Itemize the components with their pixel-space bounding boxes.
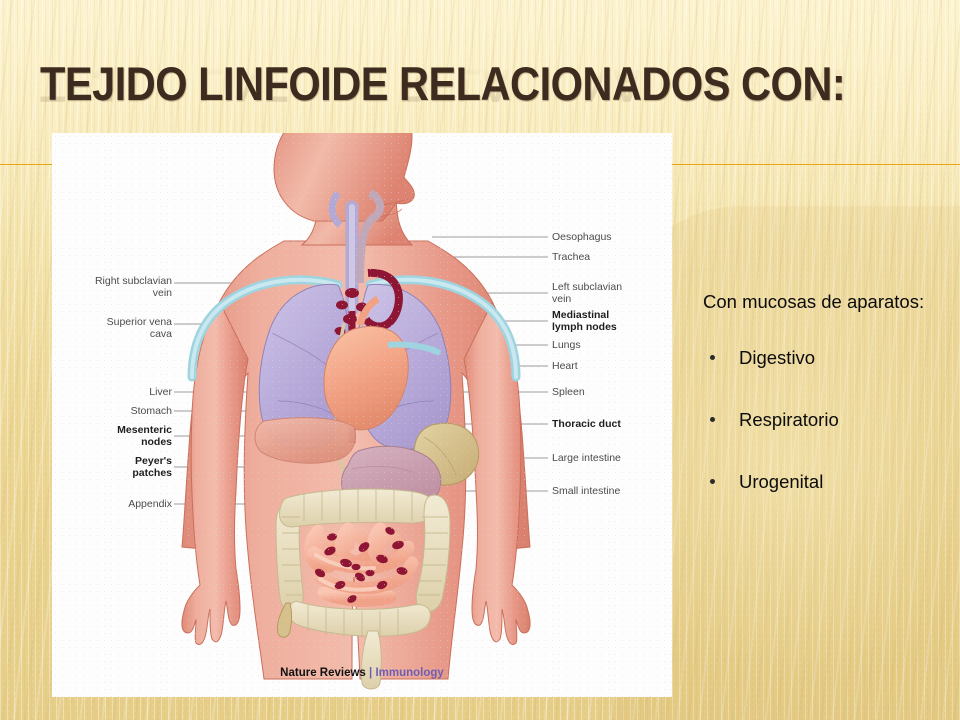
figure-label-stomach: Stomach xyxy=(52,405,172,417)
figure-label-peyers-patches: Peyer's patches xyxy=(52,455,172,479)
page-title: TEJIDO LINFOIDE RELACIONADOS CON: xyxy=(40,60,845,107)
content-text-panel: Con mucosas de aparatos: Digestivo Respi… xyxy=(703,289,953,531)
figure-label-appendix: Appendix xyxy=(52,498,172,510)
title-block: TEJIDO LINFOIDE RELACIONADOS CON: TEJIDO… xyxy=(0,60,960,138)
figure-label-thoracic-duct: Thoracic duct xyxy=(552,418,672,430)
bullet-label: Digestivo xyxy=(739,347,815,368)
bullet-dot-icon xyxy=(710,355,715,360)
figure-label-lungs: Lungs xyxy=(552,339,672,351)
liver xyxy=(255,418,355,464)
figure-label-mediastinal-lymph-nodes: Mediastinal lymph nodes xyxy=(552,309,672,333)
credit-journal: Immunology xyxy=(375,667,443,679)
figure-label-small-intestine: Small intestine xyxy=(552,485,672,497)
bullet-label: Urogenital xyxy=(739,471,823,492)
figure-label-spleen: Spleen xyxy=(552,386,672,398)
figure-label-liver: Liver xyxy=(52,386,172,398)
slide-canvas: TEJIDO LINFOIDE RELACIONADOS CON: TEJIDO… xyxy=(0,0,960,720)
figure-label-large-intestine: Large intestine xyxy=(552,452,672,464)
figure-label-superior-vena-cava: Superior vena cava xyxy=(52,316,172,340)
figure-label-left-subclavian-vein: Left subclavian vein xyxy=(552,281,672,305)
list-item: Digestivo xyxy=(703,345,953,371)
credit-publisher: Nature Reviews xyxy=(280,667,366,679)
list-item: Respiratorio xyxy=(703,407,953,433)
bullet-dot-icon xyxy=(710,417,715,422)
list-item: Urogenital xyxy=(703,469,953,495)
figure-credit: Nature Reviews | Immunology xyxy=(52,667,672,679)
lead-paragraph: Con mucosas de aparatos: xyxy=(703,289,953,315)
figure-label-mesenteric-nodes: Mesenteric nodes xyxy=(52,424,172,448)
figure-label-right-subclavian-vein: Right subclavian vein xyxy=(52,275,172,299)
anatomy-figure: Right subclavian vein Superior vena cava… xyxy=(52,133,672,697)
bullet-dot-icon xyxy=(710,479,715,484)
bullet-label: Respiratorio xyxy=(739,409,839,430)
credit-separator: | xyxy=(369,667,372,679)
figure-label-heart: Heart xyxy=(552,360,672,372)
figure-label-trachea: Trachea xyxy=(552,251,672,263)
bullet-list: Digestivo Respiratorio Urogenital xyxy=(703,345,953,495)
figure-label-oesophagus: Oesophagus xyxy=(552,231,672,243)
